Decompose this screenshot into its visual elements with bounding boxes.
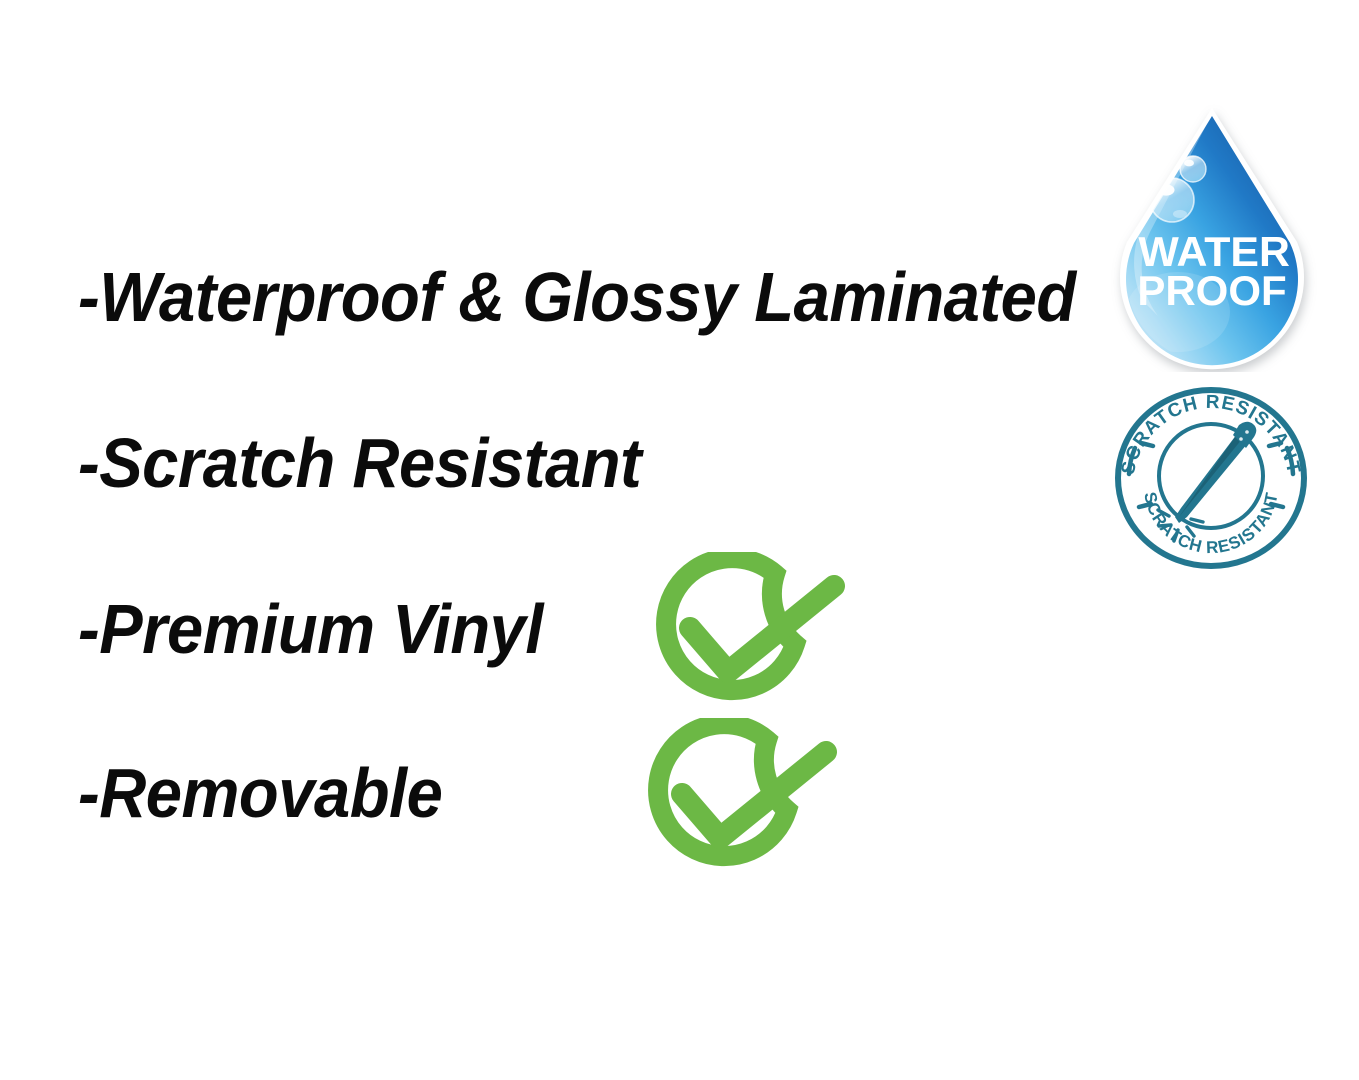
scratch-bottom-text: SCRATCH RESISTANT — [1140, 490, 1282, 557]
waterproof-label-line2: PROOF — [1137, 267, 1286, 314]
feature-text-scratch-resistant: -Scratch Resistant — [78, 428, 641, 498]
waterproof-badge: WATER PROOF — [1104, 104, 1320, 372]
check-tick — [682, 752, 826, 838]
feature-text-waterproof-glossy-laminated: -Waterproof & Glossy Laminated — [78, 262, 1076, 332]
scratch-resistant-badge: SCRATCH RESISTANT SCRATCH RESISTANT — [1111, 386, 1311, 570]
check-circle-removable — [626, 718, 846, 886]
check-tick — [690, 586, 834, 672]
product-feature-graphic: -Waterproof & Glossy Laminated -Scratch … — [0, 0, 1359, 1080]
scratch-top-text: SCRATCH RESISTANT — [1118, 392, 1304, 477]
feature-text-removable: -Removable — [78, 758, 442, 828]
feature-text-premium-vinyl: -Premium Vinyl — [78, 594, 543, 664]
check-circle-premium-vinyl — [634, 552, 854, 720]
